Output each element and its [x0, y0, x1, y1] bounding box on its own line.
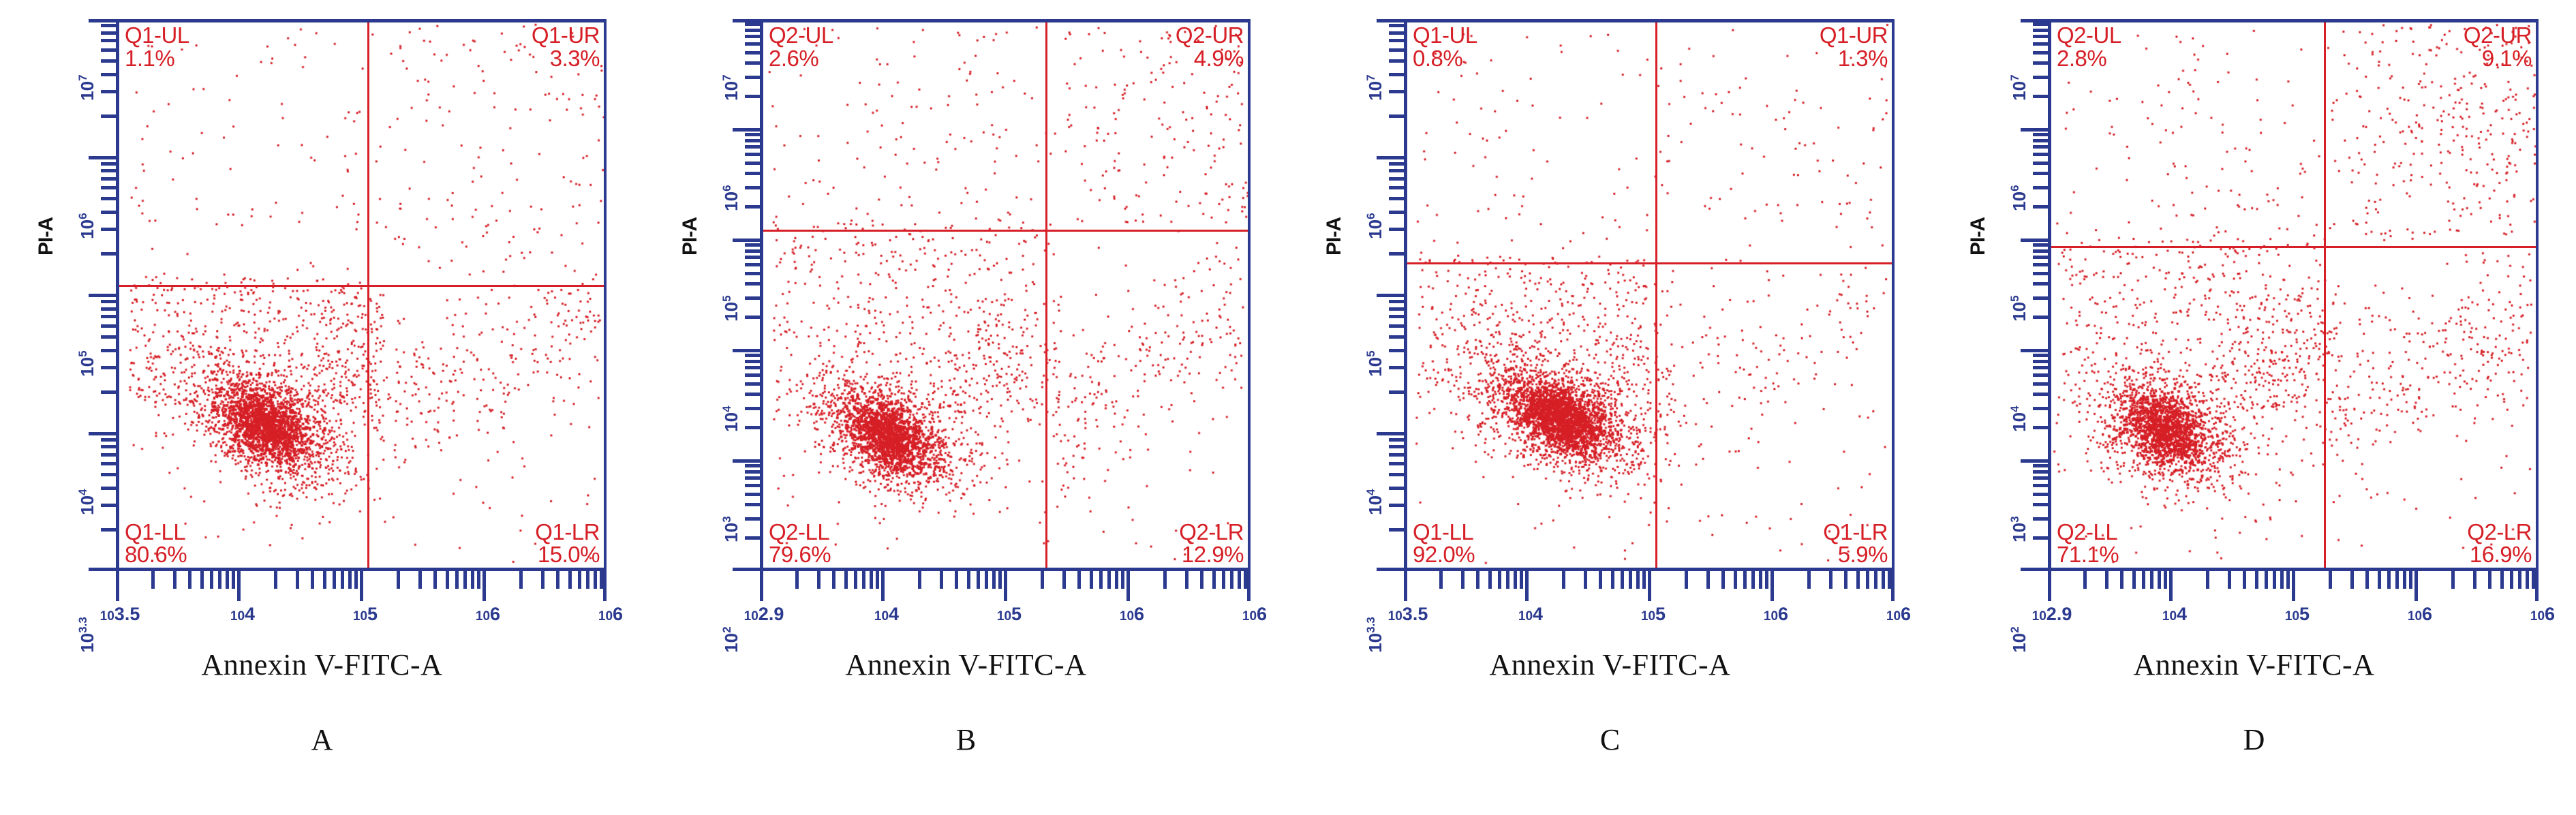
y-minor-tick — [2033, 61, 2049, 65]
quadrant-name-ul-b: Q2-UL — [769, 24, 833, 47]
y-minor-tick — [1389, 114, 1405, 118]
x-minor-tick — [1200, 571, 1203, 589]
panel-letter-d: D — [1932, 722, 2576, 757]
y-minor-tick — [101, 252, 117, 256]
quadrant-name-lr-b: Q2-LR — [1179, 521, 1244, 544]
x-minor-tick — [2228, 571, 2231, 589]
panel-a: PI-A Q1-UL 1.1% Q1-UR 3.3% Q1-LL 80.6% — [0, 0, 644, 815]
x-minor-tick — [1856, 571, 1860, 589]
quadrant-percent-ll-b: 79.6% — [769, 543, 831, 566]
quadrant-percent-ul-d: 2.8% — [2057, 47, 2121, 70]
x-minor-tick — [795, 571, 799, 589]
x-minor-tick — [1874, 571, 1877, 589]
y-minor-tick — [745, 51, 761, 55]
x-tick-rail-d — [2048, 571, 2539, 604]
x-minor-tick — [1765, 571, 1768, 589]
x-minor-tick — [1212, 571, 1216, 589]
x-tick-label: 106 — [476, 604, 500, 625]
y-minor-tick — [745, 382, 761, 386]
x-tick-label: 104 — [2162, 604, 2187, 625]
y-minor-tick — [745, 517, 761, 521]
y-tick-label: 103 — [720, 461, 742, 542]
x-minor-tick — [477, 571, 480, 589]
x-minor-tick — [1751, 571, 1755, 589]
y-tick-label: 102 — [2008, 571, 2030, 653]
y-minor-tick — [745, 373, 761, 377]
quadrant-name-lr-c: Q1-LR — [1823, 521, 1888, 544]
x-tick-label: 102.9 — [2032, 604, 2072, 625]
x-major-tick — [1770, 571, 1774, 601]
y-minor-tick — [2033, 256, 2049, 259]
x-minor-tick — [2150, 571, 2153, 589]
y-minor-tick — [2033, 249, 2049, 253]
quadrant-label-lr-b: Q2-LR 12.9% — [1179, 521, 1244, 566]
quadrant-name-ll-a: Q1-LL — [125, 521, 187, 544]
y-minor-tick — [1389, 39, 1405, 42]
y-minor-tick — [101, 59, 117, 63]
x-major-tick — [760, 571, 763, 601]
y-minor-tick — [745, 296, 761, 300]
scatter-canvas-a — [119, 22, 604, 568]
x-major-tick — [1648, 571, 1651, 601]
x-minor-tick — [1488, 571, 1492, 589]
y-minor-tick — [2033, 205, 2049, 209]
x-minor-tick — [348, 571, 352, 589]
x-minor-tick — [2387, 571, 2391, 589]
gate-vertical-d[interactable] — [2324, 22, 2326, 568]
x-minor-tick — [2395, 571, 2399, 589]
gate-vertical-b[interactable] — [1045, 22, 1047, 568]
plot-block-d: PI-A Q2-UL 2.8% Q2-UR 9.1% Q2-LL 71.1% — [1932, 0, 2576, 613]
y-minor-tick — [101, 31, 117, 35]
x-minor-tick — [418, 571, 422, 589]
x-minor-tick — [2255, 571, 2258, 589]
x-axis-title-d: Annexin V-FITC-A — [1932, 647, 2576, 682]
y-tick-label: 106 — [76, 157, 98, 239]
x-minor-tick — [1461, 571, 1465, 589]
y-minor-tick — [2033, 42, 2049, 46]
x-minor-tick — [200, 571, 204, 589]
y-minor-tick — [101, 48, 117, 52]
y-tick-label: 104 — [76, 433, 98, 514]
y-minor-tick — [2033, 51, 2049, 55]
y-tick-label: 106 — [1364, 157, 1386, 239]
y-minor-tick — [2033, 29, 2049, 32]
x-major-tick — [1126, 571, 1130, 601]
x-minor-tick — [1107, 571, 1111, 589]
x-minor-tick — [2451, 571, 2455, 589]
x-minor-tick — [2526, 571, 2529, 589]
x-tick-label: 106 — [1120, 604, 1144, 625]
quadrant-name-lr-d: Q2-LR — [2467, 521, 2532, 544]
y-tick-label: 104 — [720, 350, 742, 432]
x-tick-label: 105 — [997, 604, 1022, 625]
x-minor-tick — [2158, 571, 2161, 589]
quadrant-name-ur-d: Q2-UR — [2464, 24, 2532, 47]
y-minor-tick — [745, 263, 761, 266]
x-minor-tick — [2329, 571, 2332, 589]
gate-horizontal-a[interactable] — [119, 285, 604, 287]
y-axis-title-a: PI-A — [35, 196, 58, 277]
y-tick-label: 106 — [2008, 129, 2030, 211]
quadrant-percent-ul-a: 1.1% — [125, 47, 189, 70]
y-minor-tick — [2033, 382, 2049, 386]
x-major-tick — [1004, 571, 1007, 601]
y-minor-tick — [101, 504, 117, 507]
y-minor-tick — [745, 139, 761, 142]
x-minor-tick — [1807, 571, 1811, 589]
x-minor-tick — [1520, 571, 1523, 589]
plot-area-a[interactable]: Q1-UL 1.1% Q1-UR 3.3% Q1-LL 80.6% Q1-LR … — [116, 19, 607, 571]
y-minor-tick — [745, 35, 761, 38]
y-minor-tick — [1389, 169, 1405, 172]
y-tick-label: 103.3 — [76, 571, 98, 653]
y-minor-tick — [2033, 393, 2049, 396]
x-minor-tick — [455, 571, 459, 589]
x-minor-tick — [832, 571, 835, 589]
x-tick-rail-c — [1404, 571, 1895, 604]
x-minor-tick — [1439, 571, 1443, 589]
y-minor-tick — [745, 249, 761, 253]
quadrant-percent-lr-c: 5.9% — [1823, 543, 1888, 566]
x-minor-tick — [1621, 571, 1624, 589]
y-minor-tick — [2033, 493, 2049, 496]
y-minor-tick — [2033, 263, 2049, 266]
x-minor-tick — [1230, 571, 1233, 589]
y-minor-tick — [745, 95, 761, 98]
quadrant-label-ll-b: Q2-LL 79.6% — [769, 521, 831, 566]
y-minor-tick — [1389, 31, 1405, 35]
y-minor-tick — [745, 282, 761, 286]
quadrant-name-ur-b: Q2-UR — [1176, 24, 1244, 47]
x-tick-label: 106 — [2408, 604, 2432, 625]
quadrant-percent-ll-c: 92.0% — [1413, 543, 1475, 566]
x-minor-tick — [2510, 571, 2513, 589]
y-tick-label: 103.3 — [1364, 571, 1386, 653]
y-minor-tick — [745, 29, 761, 32]
x-minor-tick — [541, 571, 545, 589]
y-minor-tick — [1389, 197, 1405, 200]
y-tick-label: 105 — [76, 295, 98, 377]
x-major-tick — [1891, 571, 1895, 601]
y-minor-tick — [2033, 172, 2049, 175]
panel-c: PI-A Q1-UL 0.8% Q1-UR 1.3% Q1-LL 92.0% — [1288, 0, 1932, 815]
x-minor-tick — [274, 571, 277, 589]
y-minor-tick — [745, 42, 761, 46]
y-minor-tick — [745, 186, 761, 189]
y-minor-tick — [2033, 503, 2049, 506]
y-minor-tick — [1389, 366, 1405, 369]
x-minor-tick — [1498, 571, 1501, 589]
y-minor-tick — [1389, 307, 1405, 311]
x-minor-tick — [2409, 571, 2412, 589]
x-minor-tick — [2500, 571, 2504, 589]
y-minor-tick — [101, 186, 117, 189]
x-minor-tick — [173, 571, 177, 589]
x-minor-tick — [2132, 571, 2136, 589]
x-minor-tick — [1584, 571, 1587, 589]
x-minor-tick — [1077, 571, 1081, 589]
y-minor-tick — [745, 360, 761, 363]
x-minor-tick — [1642, 571, 1646, 589]
x-minor-tick — [1244, 571, 1247, 589]
x-major-tick — [1247, 571, 1251, 601]
y-minor-tick — [101, 487, 117, 490]
flow-cytometry-figure: PI-A Q1-UL 1.1% Q1-UR 3.3% Q1-LL 80.6% — [0, 0, 2576, 815]
x-axis-title-b: Annexin V-FITC-A — [644, 647, 1288, 682]
y-tick-label: 103 — [2008, 461, 2030, 542]
x-tick-label: 104 — [874, 604, 899, 625]
quadrant-percent-ll-d: 71.1% — [2057, 543, 2119, 566]
y-axis-title-c: PI-A — [1323, 196, 1346, 277]
y-minor-tick — [2033, 373, 2049, 377]
y-minor-tick — [101, 473, 117, 476]
y-minor-tick — [745, 536, 761, 540]
x-minor-tick — [1888, 571, 1891, 589]
y-minor-tick — [2033, 133, 2049, 136]
y-minor-tick — [101, 324, 117, 328]
y-minor-tick — [2033, 426, 2049, 429]
x-minor-tick — [2473, 571, 2477, 589]
x-minor-tick — [471, 571, 474, 589]
x-minor-tick — [870, 571, 873, 589]
y-minor-tick — [2033, 464, 2049, 467]
y-minor-tick — [2033, 95, 2049, 98]
x-major-tick — [2292, 571, 2295, 601]
quadrant-percent-ur-c: 1.3% — [1820, 47, 1888, 70]
x-minor-tick — [586, 571, 589, 589]
gate-horizontal-c[interactable] — [1407, 262, 1892, 264]
y-minor-tick — [1389, 211, 1405, 214]
x-minor-tick — [1829, 571, 1833, 589]
y-minor-tick — [1389, 324, 1405, 328]
y-tick-label: 107 — [720, 19, 742, 101]
y-axis-title-d: PI-A — [1967, 196, 1990, 277]
gate-horizontal-b[interactable] — [763, 230, 1248, 232]
y-minor-tick — [1389, 335, 1405, 339]
y-minor-tick — [745, 393, 761, 396]
x-tick-rail-a — [116, 571, 607, 604]
x-minor-tick — [296, 571, 299, 589]
y-tick-label: 106 — [720, 129, 742, 211]
y-minor-tick — [745, 133, 761, 136]
y-minor-tick — [745, 205, 761, 209]
y-minor-tick — [745, 366, 761, 369]
x-minor-tick — [1882, 571, 1885, 589]
quadrant-percent-ul-c: 0.8% — [1413, 47, 1477, 70]
y-minor-tick — [101, 39, 117, 42]
x-axis-title-c: Annexin V-FITC-A — [1288, 647, 1932, 682]
x-major-tick — [603, 571, 607, 601]
y-minor-tick — [745, 243, 761, 247]
scatter-canvas-d — [2051, 22, 2536, 568]
quadrant-label-ur-a: Q1-UR 3.3% — [532, 24, 600, 70]
x-minor-tick — [433, 571, 437, 589]
plot-area-b[interactable]: Q2-UL 2.6% Q2-UR 4.9% Q2-LL 79.6% Q2-LR … — [760, 19, 1251, 571]
y-minor-tick — [1389, 445, 1405, 448]
y-minor-tick — [1389, 473, 1405, 476]
plot-block-a: PI-A Q1-UL 1.1% Q1-UR 3.3% Q1-LL 80.6% — [0, 0, 644, 613]
y-minor-tick — [101, 24, 117, 27]
y-minor-tick — [101, 162, 117, 166]
quadrant-label-lr-a: Q1-LR 15.0% — [535, 521, 600, 566]
y-minor-tick — [101, 197, 117, 200]
x-minor-tick — [210, 571, 213, 589]
x-minor-tick — [1238, 571, 1241, 589]
plot-area-c[interactable]: Q1-UL 0.8% Q1-UR 1.3% Q1-LL 92.0% Q1-LR … — [1404, 19, 1895, 571]
panel-letter-c: C — [1288, 722, 1932, 757]
y-minor-tick — [1389, 162, 1405, 166]
x-minor-tick — [1476, 571, 1479, 589]
x-minor-tick — [354, 571, 358, 589]
plot-area-d[interactable]: Q2-UL 2.8% Q2-UR 9.1% Q2-LL 71.1% Q2-LR … — [2048, 19, 2539, 571]
x-minor-tick — [918, 571, 921, 589]
y-minor-tick — [1389, 438, 1405, 442]
gate-horizontal-d[interactable] — [2051, 246, 2536, 248]
quadrant-name-ll-d: Q2-LL — [2057, 521, 2119, 544]
x-minor-tick — [188, 571, 191, 589]
x-tick-label: 104 — [230, 604, 255, 625]
y-minor-tick — [101, 73, 117, 76]
panel-letter-a: A — [0, 722, 644, 757]
x-minor-tick — [2488, 571, 2491, 589]
quadrant-label-ul-b: Q2-UL 2.6% — [769, 24, 833, 70]
quadrant-percent-lr-a: 15.0% — [535, 543, 600, 566]
x-minor-tick — [2273, 571, 2276, 589]
quadrant-label-lr-d: Q2-LR 16.9% — [2467, 521, 2532, 566]
y-minor-tick — [2033, 476, 2049, 480]
quadrant-label-ur-b: Q2-UR 4.9% — [1176, 24, 1244, 70]
y-minor-tick — [101, 438, 117, 442]
y-minor-tick — [101, 335, 117, 339]
panel-b: PI-A Q2-UL 2.6% Q2-UR 4.9% Q2-LL 79.6% — [644, 0, 1288, 815]
y-tick-label: 104 — [2008, 350, 2030, 432]
plot-block-c: PI-A Q1-UL 0.8% Q1-UR 1.3% Q1-LL 92.0% — [1288, 0, 1932, 613]
x-major-tick — [2535, 571, 2539, 601]
x-tick-label: 106 — [1764, 604, 1788, 625]
x-minor-tick — [862, 571, 865, 589]
x-minor-tick — [2243, 571, 2246, 589]
y-minor-tick — [1389, 59, 1405, 63]
y-minor-tick — [745, 153, 761, 156]
y-minor-tick — [745, 426, 761, 429]
x-minor-tick — [2286, 571, 2290, 589]
x-minor-tick — [594, 571, 597, 589]
quadrant-name-ul-d: Q2-UL — [2057, 24, 2121, 47]
x-minor-tick — [578, 571, 581, 589]
x-minor-tick — [519, 571, 523, 589]
y-minor-tick — [2033, 22, 2049, 26]
x-minor-tick — [940, 571, 943, 589]
x-minor-tick — [985, 571, 988, 589]
x-minor-tick — [333, 571, 336, 589]
x-minor-tick — [2120, 571, 2123, 589]
x-minor-tick — [556, 571, 559, 589]
y-minor-tick — [101, 228, 117, 231]
x-minor-tick — [844, 571, 848, 589]
x-major-tick — [482, 571, 486, 601]
y-minor-tick — [2033, 243, 2049, 247]
y-minor-tick — [1389, 228, 1405, 231]
y-minor-tick — [745, 61, 761, 65]
x-minor-tick — [2164, 571, 2167, 589]
y-tick-label: 105 — [2008, 240, 2030, 322]
y-minor-tick — [745, 272, 761, 275]
x-tick-label: 105 — [2285, 604, 2310, 625]
y-minor-tick — [1389, 504, 1405, 507]
x-minor-tick — [2142, 571, 2145, 589]
x-minor-tick — [1844, 571, 1847, 589]
quadrant-label-ur-d: Q2-UR 9.1% — [2464, 24, 2532, 70]
x-minor-tick — [992, 571, 996, 589]
quadrant-percent-ur-d: 9.1% — [2464, 47, 2532, 70]
x-minor-tick — [2105, 571, 2109, 589]
x-minor-tick — [151, 571, 155, 589]
gate-vertical-a[interactable] — [367, 22, 369, 568]
gate-vertical-c[interactable] — [1655, 22, 1657, 568]
y-minor-tick — [2033, 470, 2049, 474]
y-minor-tick — [1389, 462, 1405, 465]
y-minor-tick — [1389, 487, 1405, 490]
y-minor-tick — [2033, 484, 2049, 487]
quadrant-percent-ur-a: 3.3% — [532, 47, 600, 70]
x-minor-tick — [1759, 571, 1762, 589]
y-minor-tick — [745, 145, 761, 149]
y-minor-tick — [1389, 177, 1405, 181]
y-minor-tick — [2033, 366, 2049, 369]
y-minor-tick — [2033, 536, 2049, 540]
quadrant-name-ll-b: Q2-LL — [769, 521, 831, 544]
x-minor-tick — [854, 571, 857, 589]
x-major-tick — [1404, 571, 1407, 601]
y-tick-label: 102 — [720, 571, 742, 653]
x-minor-tick — [1611, 571, 1614, 589]
y-minor-tick — [101, 169, 117, 172]
x-tick-rail-b — [760, 571, 1251, 604]
x-major-tick — [360, 571, 363, 601]
quadrant-label-lr-c: Q1-LR 5.9% — [1823, 521, 1888, 566]
scatter-canvas-c — [1407, 22, 1892, 568]
x-tick-label: 102.9 — [744, 604, 784, 625]
y-minor-tick — [101, 453, 117, 457]
y-minor-tick — [2033, 407, 2049, 410]
y-minor-tick — [2033, 35, 2049, 38]
y-minor-tick — [2033, 139, 2049, 142]
quadrant-name-ul-a: Q1-UL — [125, 24, 189, 47]
x-major-tick — [2414, 571, 2418, 601]
x-minor-tick — [1185, 571, 1189, 589]
x-minor-tick — [977, 571, 980, 589]
quadrant-name-ur-c: Q1-UR — [1820, 24, 1888, 47]
y-tick-label: 104 — [1364, 433, 1386, 514]
y-minor-tick — [745, 503, 761, 506]
y-minor-tick — [2033, 282, 2049, 286]
x-tick-label: 106 — [2530, 604, 2555, 625]
quadrant-name-ul-c: Q1-UL — [1413, 24, 1477, 47]
x-minor-tick — [218, 571, 221, 589]
x-minor-tick — [2265, 571, 2268, 589]
x-major-tick — [2048, 571, 2051, 601]
y-minor-tick — [101, 307, 117, 311]
y-minor-tick — [101, 315, 117, 318]
y-minor-tick — [2033, 360, 2049, 363]
y-minor-tick — [745, 493, 761, 496]
y-minor-tick — [2033, 296, 2049, 300]
quadrant-name-lr-a: Q1-LR — [535, 521, 600, 544]
y-minor-tick — [101, 300, 117, 303]
y-minor-tick — [101, 462, 117, 465]
y-minor-tick — [2033, 162, 2049, 165]
